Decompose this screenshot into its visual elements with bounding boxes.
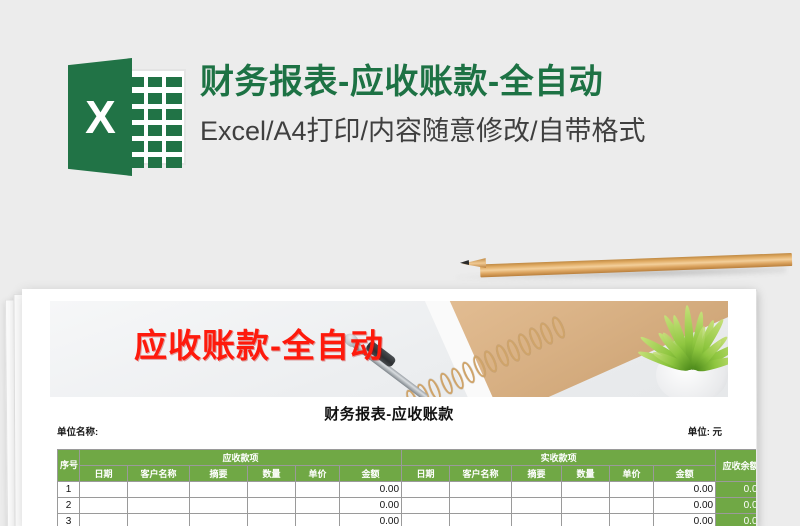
cell-received-blank[interactable] (562, 514, 610, 526)
excel-icon-cell (130, 93, 144, 104)
cell-receivable-blank[interactable] (248, 498, 296, 514)
cell-received-blank[interactable] (512, 514, 562, 526)
excel-icon-cell (166, 141, 182, 152)
cell-index[interactable]: 3 (58, 514, 80, 526)
cell-receivable-blank[interactable] (80, 482, 128, 498)
cell-receivable-amount[interactable]: 0.00 (340, 514, 402, 526)
page-title: 财务报表-应收账款-全自动 (200, 60, 646, 104)
excel-icon-cell (166, 109, 182, 120)
cell-index[interactable]: 2 (58, 498, 80, 514)
cell-received-blank[interactable] (402, 514, 450, 526)
cover-photo: 应收账款-全自动 (50, 301, 728, 397)
table-sub-header-row: 日期客户名称摘要数量单价金额日期客户名称摘要数量单价金额 (58, 466, 757, 482)
col-group-received: 实收款项 (402, 450, 716, 466)
document-preview[interactable]: 应收账款-全自动 财务报表-应收账款 单位名称: 单位: 元 (22, 289, 756, 526)
excel-icon-cell (130, 141, 144, 152)
cell-receivable-amount[interactable]: 0.00 (340, 482, 402, 498)
excel-icon-cell (148, 109, 162, 120)
col-subheader-receivable-0: 日期 (80, 466, 128, 482)
col-subheader-received-3: 数量 (562, 466, 610, 482)
table-row[interactable]: 10.000.000.00 (58, 482, 757, 498)
notebook-spiral-rings (402, 303, 572, 397)
cell-received-amount[interactable]: 0.00 (654, 514, 716, 526)
col-header-seq: 序号 (58, 450, 80, 482)
excel-icon-cell (148, 157, 162, 168)
cell-index[interactable]: 1 (58, 482, 80, 498)
banner-text-block: 财务报表-应收账款-全自动 Excel/A4打印/内容随意修改/自带格式 (200, 60, 646, 151)
col-group-receivable: 应收款项 (80, 450, 402, 466)
cell-received-blank[interactable] (402, 482, 450, 498)
table-row[interactable]: 30.000.000.00 (58, 514, 757, 526)
pencil-icon (452, 250, 792, 272)
cell-received-blank[interactable] (562, 482, 610, 498)
cell-received-amount[interactable]: 0.00 (654, 482, 716, 498)
col-header-balance: 应收余额 (716, 450, 756, 482)
cell-received-blank[interactable] (402, 498, 450, 514)
currency-unit-label: 单位: 元 (688, 424, 722, 438)
header-banner: X 财务报表-应收账款-全自动 Excel/A4打印/内容随意修改/自带格式 (0, 0, 800, 228)
excel-icon-cell (130, 125, 144, 136)
col-subheader-received-5: 金额 (654, 466, 716, 482)
cell-receivable-blank[interactable] (248, 514, 296, 526)
excel-icon-cell (148, 141, 162, 152)
cell-receivable-blank[interactable] (80, 514, 128, 526)
cell-receivable-blank[interactable] (296, 482, 340, 498)
cell-receivable-amount[interactable]: 0.00 (340, 498, 402, 514)
excel-icon: X (68, 58, 186, 176)
cell-received-blank[interactable] (562, 498, 610, 514)
document-red-heading: 应收账款-全自动 (134, 319, 384, 367)
cell-receivable-blank[interactable] (190, 482, 248, 498)
cell-received-blank[interactable] (512, 498, 562, 514)
col-subheader-receivable-4: 单价 (296, 466, 340, 482)
receivables-table[interactable]: 序号 应收款项 实收款项 应收余额 备注 日期客户名称摘要数量单价金额日期客户名… (57, 449, 756, 526)
cell-receivable-blank[interactable] (128, 498, 190, 514)
excel-icon-grid (126, 69, 186, 165)
col-subheader-received-0: 日期 (402, 466, 450, 482)
cell-balance[interactable]: 0.00 (716, 498, 756, 514)
cell-receivable-blank[interactable] (248, 482, 296, 498)
excel-icon-cell (148, 77, 162, 87)
spreadsheet-area: 财务报表-应收账款 单位名称: 单位: 元 序号 应收款项 (50, 401, 728, 526)
excel-icon-cell (166, 125, 182, 136)
cell-receivable-blank[interactable] (128, 514, 190, 526)
col-subheader-receivable-3: 数量 (248, 466, 296, 482)
cell-received-blank[interactable] (450, 514, 512, 526)
cell-receivable-blank[interactable] (296, 514, 340, 526)
excel-icon-cell (148, 93, 162, 104)
cell-received-blank[interactable] (610, 514, 654, 526)
col-subheader-receivable-2: 摘要 (190, 466, 248, 482)
cell-receivable-blank[interactable] (296, 498, 340, 514)
excel-icon-cell (148, 125, 162, 136)
cell-receivable-blank[interactable] (190, 514, 248, 526)
excel-icon-cell (130, 77, 144, 87)
excel-icon-cell (130, 157, 144, 168)
excel-icon-letter: X (68, 58, 132, 176)
cell-receivable-blank[interactable] (128, 482, 190, 498)
cell-received-blank[interactable] (512, 482, 562, 498)
cell-receivable-blank[interactable] (190, 498, 248, 514)
table-row[interactable]: 20.000.000.00 (58, 498, 757, 514)
cell-received-blank[interactable] (610, 498, 654, 514)
cell-balance[interactable]: 0.00 (716, 514, 756, 526)
col-subheader-receivable-1: 客户名称 (128, 466, 190, 482)
table-body[interactable]: 10.000.000.0020.000.000.0030.000.000.004… (58, 482, 757, 526)
excel-icon-cell (130, 109, 144, 120)
col-subheader-receivable-5: 金额 (340, 466, 402, 482)
col-subheader-received-4: 单价 (610, 466, 654, 482)
cell-received-blank[interactable] (610, 482, 654, 498)
excel-icon-cell (166, 93, 182, 104)
cell-balance[interactable]: 0.00 (716, 482, 756, 498)
spreadsheet-title: 财务报表-应收账款 (50, 401, 728, 423)
excel-icon-cell (166, 157, 182, 168)
page-subtitle: Excel/A4打印/内容随意修改/自带格式 (200, 111, 646, 151)
spreadsheet-meta-row: 单位名称: 单位: 元 (50, 423, 728, 439)
page-root: X 财务报表-应收账款-全自动 Excel/A4打印/内容随意修改/自带格式 (0, 0, 800, 526)
cell-received-amount[interactable]: 0.00 (654, 498, 716, 514)
potted-plant-icon (638, 301, 728, 397)
cell-receivable-blank[interactable] (80, 498, 128, 514)
col-subheader-received-1: 客户名称 (450, 466, 512, 482)
table-group-header-row: 序号 应收款项 实收款项 应收余额 备注 (58, 450, 757, 466)
cell-received-blank[interactable] (450, 498, 512, 514)
unit-name-label: 单位名称: (57, 424, 98, 438)
col-subheader-received-2: 摘要 (512, 466, 562, 482)
cell-received-blank[interactable] (450, 482, 512, 498)
excel-icon-cell (166, 77, 182, 87)
